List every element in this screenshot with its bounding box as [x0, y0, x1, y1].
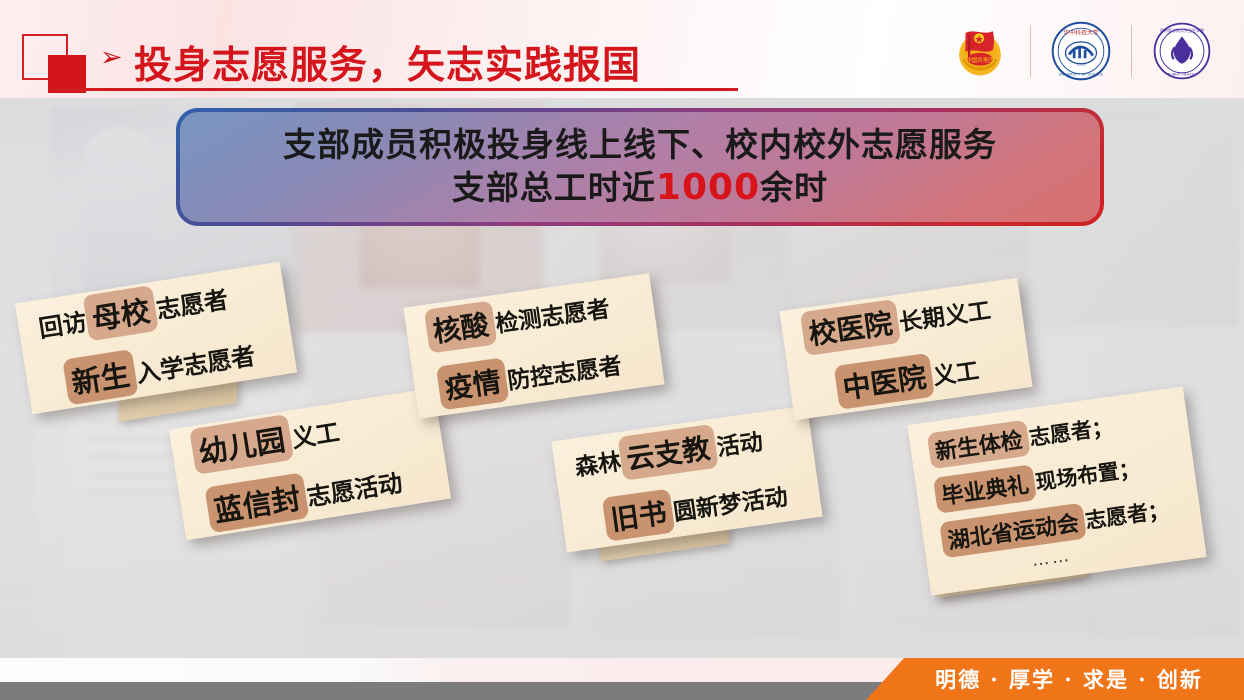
footer-motto-banner: 明德 · 厚学 · 求是 · 创新 — [866, 658, 1244, 700]
banner-hours-number: 1000 — [656, 167, 760, 208]
line-highlight: 幼儿园 — [189, 414, 294, 475]
line-suffix: 活动 — [714, 422, 764, 462]
logo-group: 中国共青团 华中科技大学 1952 UNIVERSITY OF SCIENCE — [930, 18, 1232, 84]
svg-text:1952: 1952 — [1076, 62, 1086, 67]
banner-line-2: 支部总工时近1000余时 — [452, 165, 828, 210]
line-highlight: 云支教 — [618, 424, 719, 481]
line-highlight: 毕业典礼 — [933, 464, 1037, 514]
slide-footer: 明德 · 厚学 · 求是 · 创新 — [0, 658, 1244, 700]
line-suffix: 志愿者； — [1027, 410, 1114, 451]
banner-line-1: 支部成员积极投身线上线下、校内校外志愿服务 — [283, 124, 997, 165]
line-suffix: 防控志愿者 — [505, 346, 624, 396]
line-suffix: 现场布置； — [1033, 452, 1141, 496]
slide-root: ➢ 投身志愿服务，矢志实践报国 中国共青团 — [0, 0, 1244, 700]
headline-banner: 支部成员积极投身线上线下、校内校外志愿服务 支部总工时近1000余时 — [176, 108, 1104, 226]
line-suffix: 圆新梦活动 — [671, 477, 790, 527]
arrow-bullet-icon: ➢ — [100, 44, 123, 71]
footer-motto: 明德 · 厚学 · 求是 · 创新 — [907, 664, 1203, 694]
line-prefix: 森林 — [573, 442, 623, 482]
line-suffix: 志愿者； — [1083, 493, 1170, 534]
line-suffix: 志愿者 — [154, 279, 231, 325]
communist-youth-league-emblem-icon: 中国共青团 — [930, 18, 1030, 84]
svg-text:UNIVERSITY OF SCIENCE: UNIVERSITY OF SCIENCE — [1059, 73, 1104, 77]
line-suffix: 志愿活动 — [304, 463, 404, 513]
slide-header: ➢ 投身志愿服务，矢志实践报国 中国共青团 — [0, 0, 1244, 98]
banner-line-2-prefix: 支部总工时近 — [452, 168, 656, 207]
svg-text:同济医学院公共卫生学院: 同济医学院公共卫生学院 — [1160, 27, 1204, 33]
line-highlight: 核酸 — [424, 301, 497, 354]
title-underline — [48, 88, 738, 91]
line-suffix: 义工 — [289, 412, 342, 454]
line-highlight: 新生 — [62, 349, 138, 405]
line-suffix: 检测志愿者 — [493, 289, 612, 339]
svg-text:华中科技大学: 华中科技大学 — [1063, 29, 1099, 37]
line-highlight: 母校 — [83, 285, 159, 341]
line-highlight: 新生体检 — [927, 419, 1031, 469]
line-suffix: 入学志愿者 — [133, 335, 257, 388]
line-suffix: 长期义工 — [897, 291, 993, 337]
tongji-medical-college-emblem-icon: 同济医学院公共卫生学院 PUBLIC HEALTH — [1132, 18, 1232, 84]
banner-line-2-suffix: 余时 — [760, 168, 828, 207]
svg-text:中国共青团: 中国共青团 — [966, 56, 993, 64]
line-suffix: 义工 — [930, 351, 980, 391]
line-highlight: 中医院 — [834, 353, 935, 410]
hust-university-seal-icon: 华中科技大学 1952 UNIVERSITY OF SCIENCE — [1031, 18, 1131, 84]
page-title: 投身志愿服务，矢志实践报国 — [134, 34, 641, 89]
line-highlight: 旧书 — [602, 489, 675, 542]
line-prefix: 回访 — [36, 301, 89, 343]
line-highlight: 疫情 — [436, 357, 509, 410]
svg-text:PUBLIC HEALTH: PUBLIC HEALTH — [1168, 73, 1196, 77]
line-highlight: 校医院 — [800, 299, 901, 356]
